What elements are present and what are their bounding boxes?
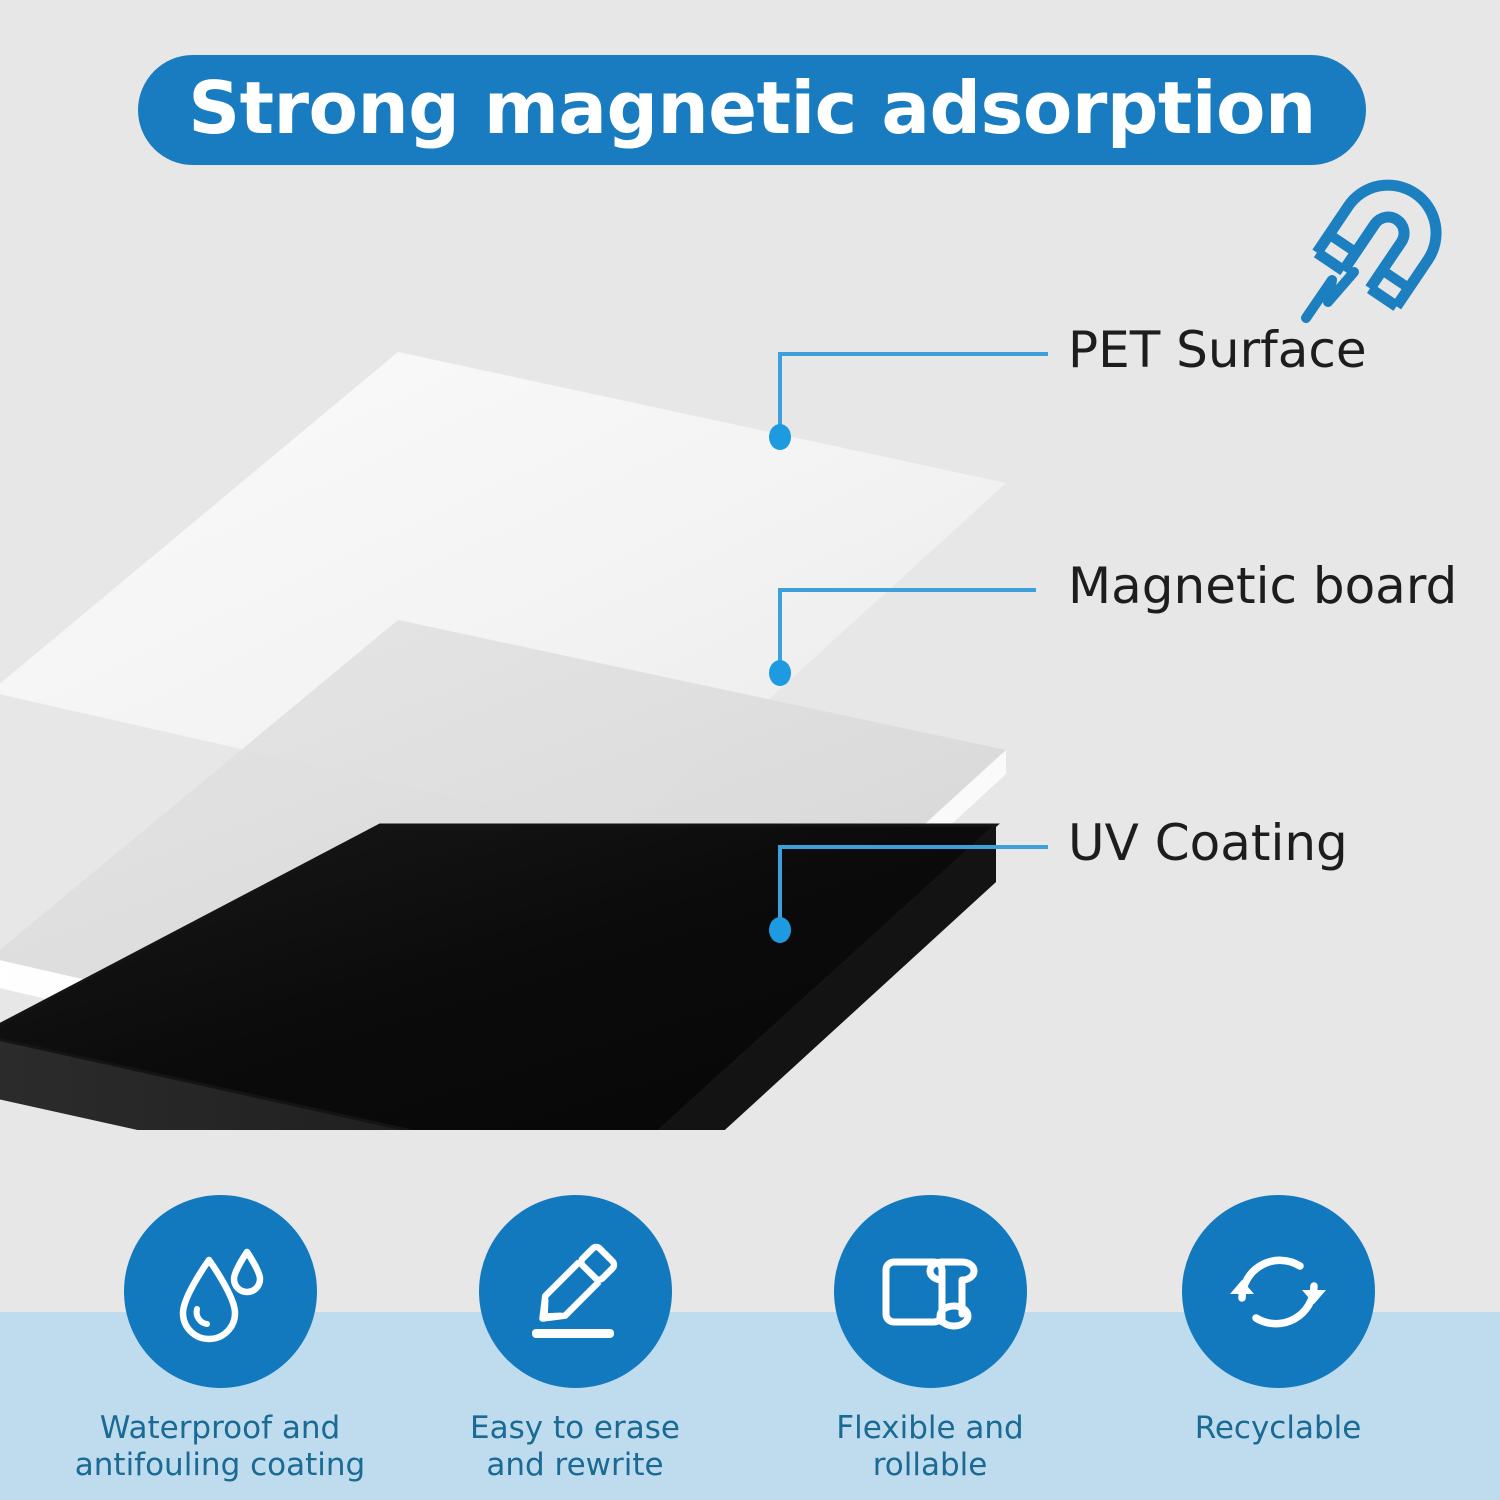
feature-erase-rewrite: Easy to erase and rewrite bbox=[427, 1195, 723, 1483]
title-banner: Strong magnetic adsorption bbox=[138, 55, 1366, 165]
feature-recyclable: Recyclable bbox=[1130, 1195, 1426, 1447]
callout-line-horizontal bbox=[778, 588, 1036, 592]
exploded-layer-diagram bbox=[0, 330, 1010, 1120]
feature-icon-circle bbox=[124, 1195, 317, 1388]
infographic-canvas: Strong magnetic adsorption bbox=[0, 0, 1500, 1500]
feature-icon-circle bbox=[479, 1195, 672, 1388]
callout-uv-coating bbox=[778, 845, 1078, 935]
feature-waterproof: Waterproof and antifouling coating bbox=[72, 1195, 368, 1483]
layer-label-magnetic-board: Magnetic board bbox=[1068, 561, 1457, 611]
feature-caption: Recyclable bbox=[1130, 1410, 1426, 1447]
callout-dot bbox=[769, 424, 791, 450]
callout-magnetic-board bbox=[778, 588, 1078, 678]
callout-pet-surface bbox=[778, 352, 1078, 442]
feature-caption: Waterproof and antifouling coating bbox=[72, 1410, 368, 1483]
callout-dot bbox=[769, 917, 791, 943]
feature-icon-circle bbox=[1182, 1195, 1375, 1388]
feature-caption: Easy to erase and rewrite bbox=[427, 1410, 723, 1483]
callout-line-vertical bbox=[778, 588, 782, 666]
callout-line-horizontal bbox=[778, 845, 1048, 849]
callout-line-horizontal bbox=[778, 352, 1048, 356]
callout-line-vertical bbox=[778, 845, 782, 923]
feature-row: Waterproof and antifouling coating Easy bbox=[0, 1195, 1500, 1500]
feature-caption: Flexible and rollable bbox=[782, 1410, 1078, 1483]
magnet-icon bbox=[1288, 168, 1468, 328]
layer-label-uv-coating: UV Coating bbox=[1068, 818, 1348, 868]
feature-flexible-rollable: Flexible and rollable bbox=[782, 1195, 1078, 1483]
layer-label-pet-surface: PET Surface bbox=[1068, 325, 1367, 375]
feature-icon-circle bbox=[834, 1195, 1027, 1388]
callout-dot bbox=[769, 660, 791, 686]
callout-line-vertical bbox=[778, 352, 782, 430]
page-title: Strong magnetic adsorption bbox=[188, 72, 1316, 148]
